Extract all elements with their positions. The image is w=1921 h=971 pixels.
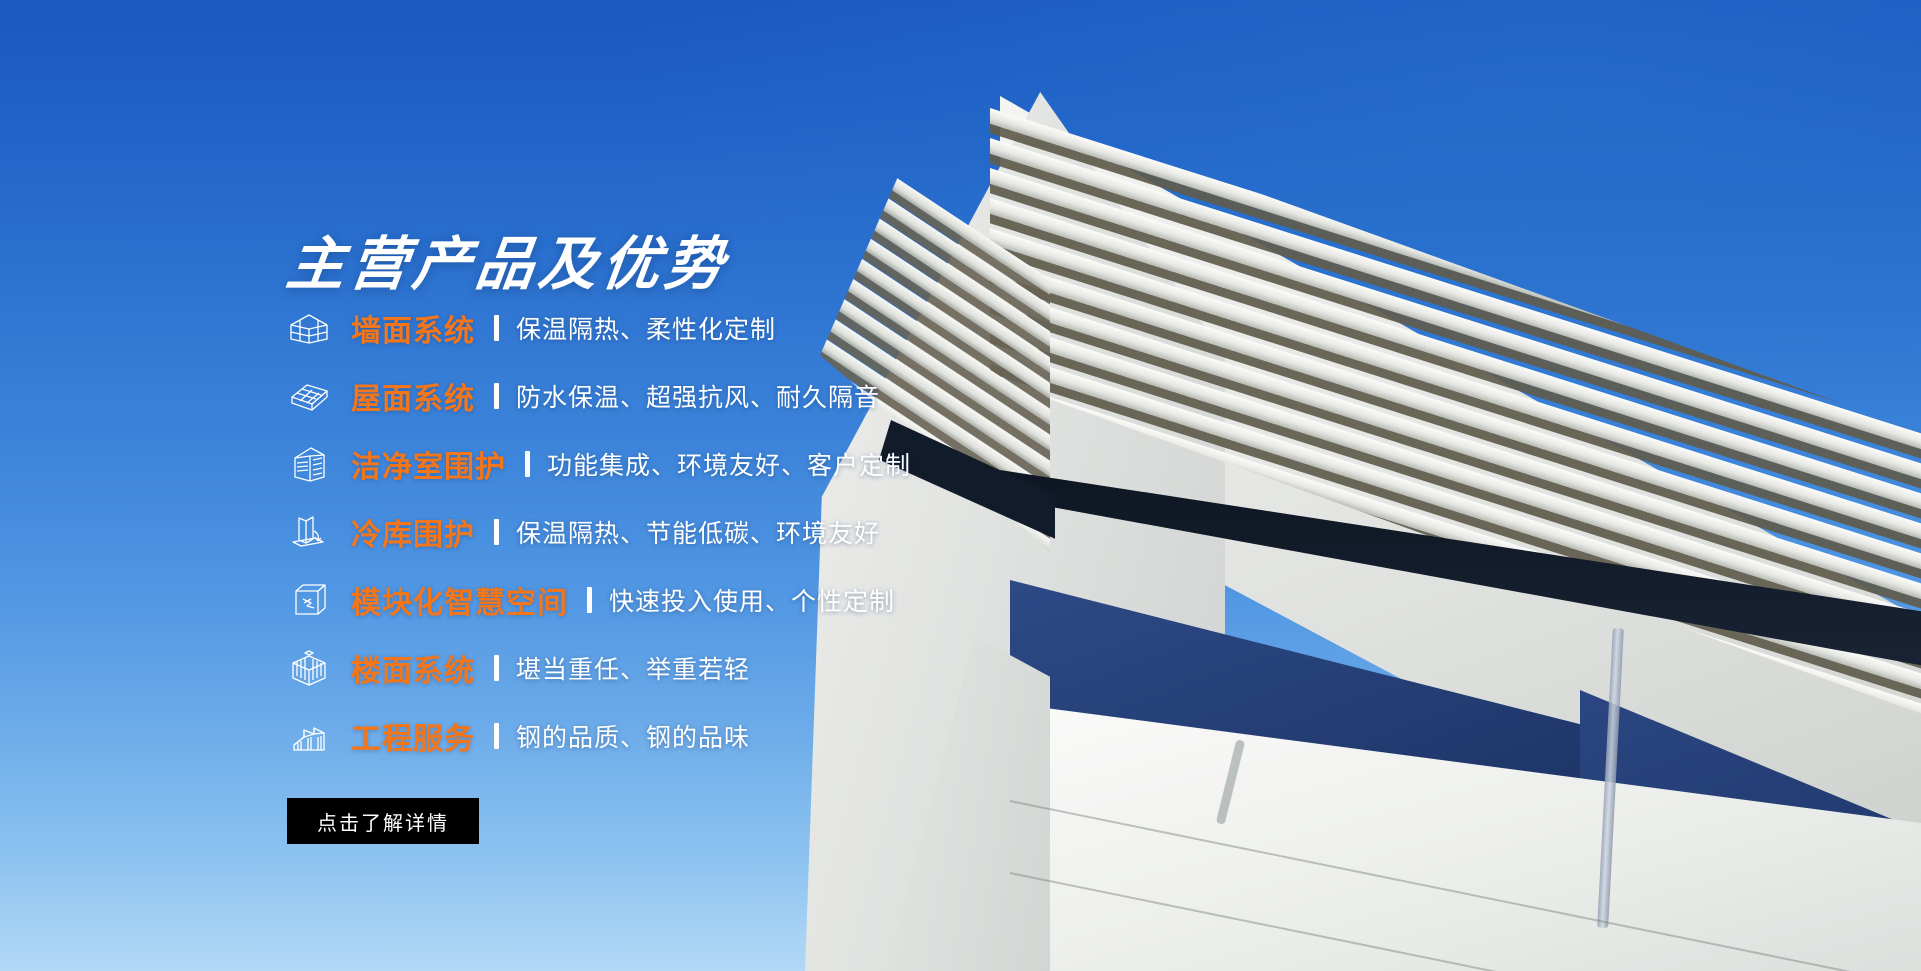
divider	[494, 383, 499, 409]
divider	[525, 451, 530, 477]
cold-storage-icon	[287, 511, 331, 553]
product-name: 墙面系统	[351, 306, 475, 350]
product-desc: 快速投入使用、个性定制	[609, 582, 895, 618]
product-list: 墙面系统 保温隔热、柔性化定制 屋面系统 防水保温、超强抗风、耐久隔音	[287, 298, 1107, 774]
list-item[interactable]: 墙面系统 保温隔热、柔性化定制	[287, 298, 1107, 358]
wall-system-icon	[287, 307, 331, 349]
product-name: 工程服务	[351, 714, 475, 758]
product-desc: 防水保温、超强抗风、耐久隔音	[516, 378, 880, 414]
list-item[interactable]: 屋面系统 防水保温、超强抗风、耐久隔音	[287, 366, 1107, 426]
page-title: 主营产品及优势	[283, 236, 731, 294]
divider	[494, 315, 499, 341]
product-name: 屋面系统	[351, 374, 475, 418]
list-item[interactable]: 洁净室围护 功能集成、环境友好、客户定制	[287, 434, 1107, 494]
list-item[interactable]: 模块化智慧空间 快速投入使用、个性定制	[287, 570, 1107, 630]
modular-space-icon	[287, 579, 331, 621]
product-name: 模块化智慧空间	[351, 578, 568, 622]
product-desc: 功能集成、环境友好、客户定制	[547, 446, 911, 482]
learn-more-button[interactable]: 点击了解详情	[287, 798, 479, 844]
product-name: 洁净室围护	[351, 442, 506, 486]
hero-banner: 主营产品及优势 墙面系统 保温隔热、柔性化定制	[0, 0, 1921, 971]
divider	[494, 519, 499, 545]
product-desc: 堪当重任、举重若轻	[516, 650, 750, 686]
divider	[494, 655, 499, 681]
divider	[494, 723, 499, 749]
floor-system-icon	[287, 647, 331, 689]
product-desc: 钢的品质、钢的品味	[516, 718, 750, 754]
divider	[587, 587, 592, 613]
roof-system-icon	[287, 375, 331, 417]
hero-content: 主营产品及优势 墙面系统 保温隔热、柔性化定制	[0, 0, 1000, 971]
cleanroom-enclosure-icon	[287, 443, 331, 485]
product-desc: 保温隔热、柔性化定制	[516, 310, 776, 346]
list-item[interactable]: 工程服务 钢的品质、钢的品味	[287, 706, 1107, 766]
product-name: 冷库围护	[351, 510, 475, 554]
list-item[interactable]: 冷库围护 保温隔热、节能低碳、环境友好	[287, 502, 1107, 562]
list-item[interactable]: 楼面系统 堪当重任、举重若轻	[287, 638, 1107, 698]
engineering-service-icon	[287, 715, 331, 757]
product-name: 楼面系统	[351, 646, 475, 690]
product-desc: 保温隔热、节能低碳、环境友好	[516, 514, 880, 550]
